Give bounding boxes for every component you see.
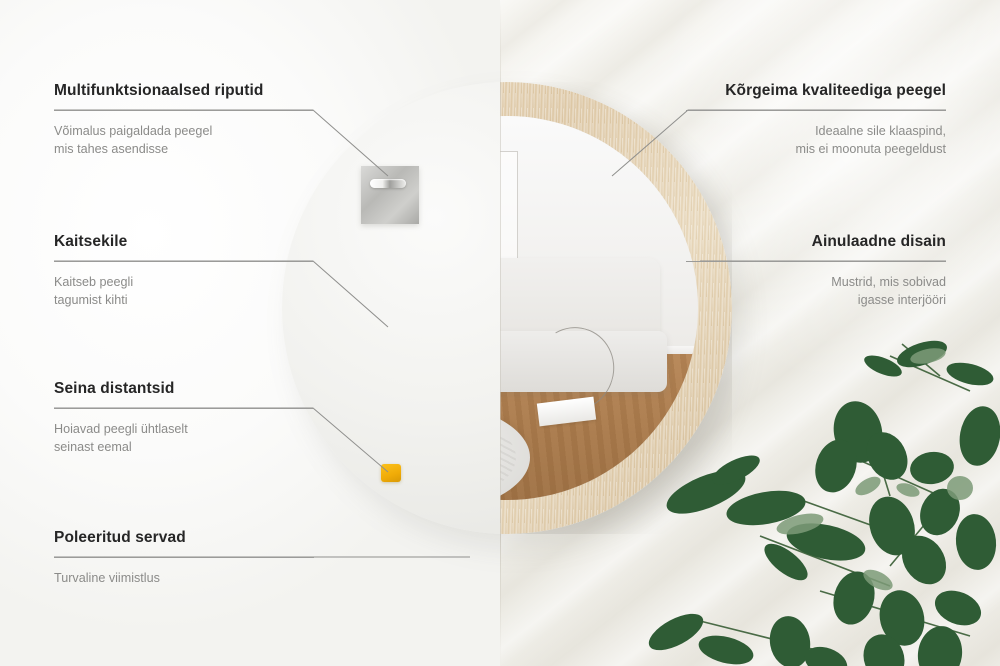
- callout-rule: [686, 261, 946, 262]
- callout-desc: Mustrid, mis sobivad igasse interjööri: [686, 273, 946, 310]
- callout-multifunktsionaalsed-riputid: Multifunktsionaalsed riputid Võimalus pa…: [54, 82, 314, 158]
- callout-seina-distantsid: Seina distantsid Hoiavad peegli ühtlasel…: [54, 380, 314, 456]
- green-leaf-branches-decor: [640, 336, 1000, 666]
- callout-desc: Ideaalne sile klaaspind, mis ei moonuta …: [686, 122, 946, 159]
- foliage-icon: [640, 336, 1000, 666]
- callout-kaitsekile: Kaitsekile Kaitseb peegli tagumist kihti: [54, 233, 314, 309]
- callout-desc: Hoiavad peegli ühtlaselt seinast eemal: [54, 420, 314, 457]
- infographic-canvas: Multifunktsionaalsed riputid Võimalus pa…: [0, 0, 1000, 666]
- callout-desc: Võimalus paigaldada peegel mis tahes ase…: [54, 122, 314, 159]
- callout-desc: Kaitseb peegli tagumist kihti: [54, 273, 314, 310]
- callout-rule: [54, 408, 314, 409]
- callout-korgeima-kvaliteediga-peegel: Kõrgeima kvaliteediga peegel Ideaalne si…: [686, 82, 946, 158]
- callout-title: Kõrgeima kvaliteediga peegel: [686, 82, 946, 101]
- callout-desc: Turvaline viimistlus: [54, 569, 314, 587]
- callout-title: Multifunktsionaalsed riputid: [54, 82, 314, 101]
- callout-rule: [54, 110, 314, 111]
- callout-title: Poleeritud servad: [54, 529, 314, 548]
- callout-title: Seina distantsid: [54, 380, 314, 399]
- callout-poleeritud-servad: Poleeritud servad Turvaline viimistlus: [54, 529, 314, 587]
- callout-title: Kaitsekile: [54, 233, 314, 252]
- callout-rule: [54, 261, 314, 262]
- hanger-bracket: [361, 166, 419, 224]
- wall-spacer: [381, 464, 401, 482]
- mirror-view-seam: [500, 82, 501, 534]
- callout-rule: [686, 110, 946, 111]
- callout-rule: [54, 557, 314, 558]
- callout-ainulaadne-disain: Ainulaadne disain Mustrid, mis sobivad i…: [686, 233, 946, 309]
- callout-title: Ainulaadne disain: [686, 233, 946, 252]
